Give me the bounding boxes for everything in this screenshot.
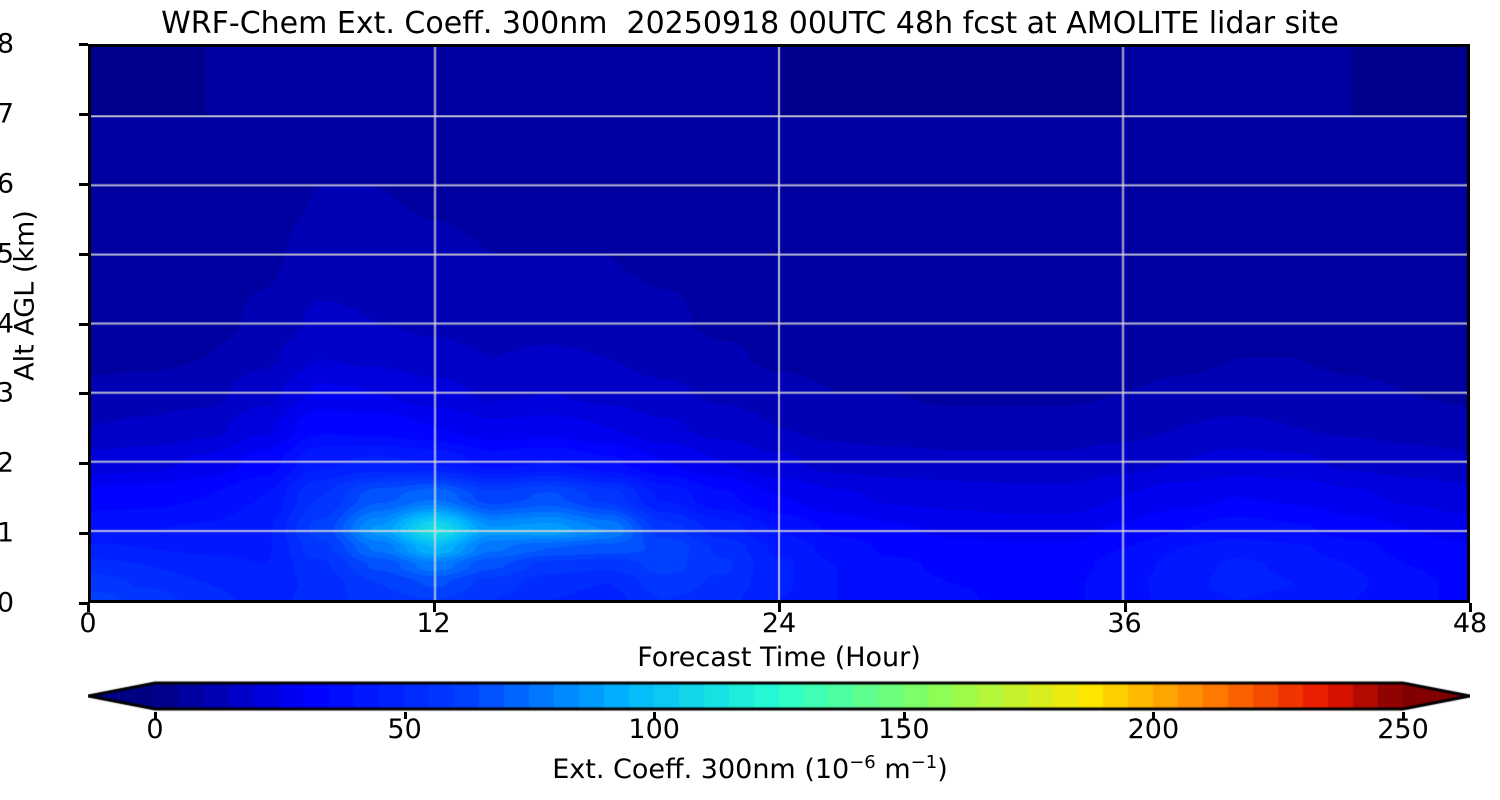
extinction-coefficient-field (91, 47, 1467, 600)
y-axis-tick-label: 3 (0, 378, 14, 409)
colorbar-label-main: Ext. Coeff. 300nm (10 (552, 754, 849, 785)
y-axis-tick-mark (79, 43, 88, 46)
colorbar-tick-mark (653, 712, 656, 719)
x-axis-tick-mark (1124, 603, 1127, 612)
y-axis-tick-mark (79, 183, 88, 186)
colorbar (88, 680, 1470, 712)
figure-title: WRF-Chem Ext. Coeff. 300nm 20250918 00UT… (0, 6, 1500, 41)
y-axis-tick-label: 5 (0, 238, 14, 269)
y-axis-tick-label: 0 (0, 588, 14, 619)
x-axis-tick-label: 0 (28, 608, 148, 639)
y-axis-tick-mark (79, 253, 88, 256)
y-axis-tick-mark (79, 113, 88, 116)
colorbar-label: Ext. Coeff. 300nm (10−6 m−1) (0, 752, 1500, 785)
colorbar-tick-mark (903, 712, 906, 719)
colorbar-label-exponent-2: −1 (911, 752, 938, 773)
plot-axes (88, 44, 1470, 603)
x-axis-tick-label: 48 (1410, 608, 1500, 639)
colorbar-gradient (88, 680, 1470, 712)
y-axis-tick-label: 4 (0, 308, 14, 339)
y-axis-tick-mark (79, 323, 88, 326)
colorbar-label-end: ) (937, 754, 948, 785)
colorbar-label-exponent-1: −6 (849, 752, 876, 773)
colorbar-label-mid: m (876, 754, 911, 785)
x-axis-tick-mark (433, 603, 436, 612)
y-axis-label: Alt AGL (km) (10, 96, 41, 496)
colorbar-tick-mark (154, 712, 157, 719)
y-axis-tick-mark (79, 462, 88, 465)
y-axis-tick-label: 7 (0, 98, 14, 129)
colorbar-tick-mark (1402, 712, 1405, 719)
y-axis-tick-label: 2 (0, 448, 14, 479)
colorbar-tick-mark (404, 712, 407, 719)
x-axis-tick-label: 12 (374, 608, 494, 639)
x-axis-tick-label: 24 (719, 608, 839, 639)
figure-root: WRF-Chem Ext. Coeff. 300nm 20250918 00UT… (0, 0, 1500, 800)
x-axis-tick-mark (1469, 603, 1472, 612)
x-axis-tick-mark (87, 603, 90, 612)
y-axis-tick-mark (79, 392, 88, 395)
y-axis-tick-label: 1 (0, 518, 14, 549)
x-axis-tick-mark (778, 603, 781, 612)
colorbar-tick-mark (1152, 712, 1155, 719)
x-axis-label: Forecast Time (Hour) (88, 642, 1470, 673)
y-axis-tick-mark (79, 532, 88, 535)
y-axis-tick-label: 6 (0, 168, 14, 199)
y-axis-tick-label: 8 (0, 29, 14, 60)
x-axis-tick-label: 36 (1065, 608, 1185, 639)
